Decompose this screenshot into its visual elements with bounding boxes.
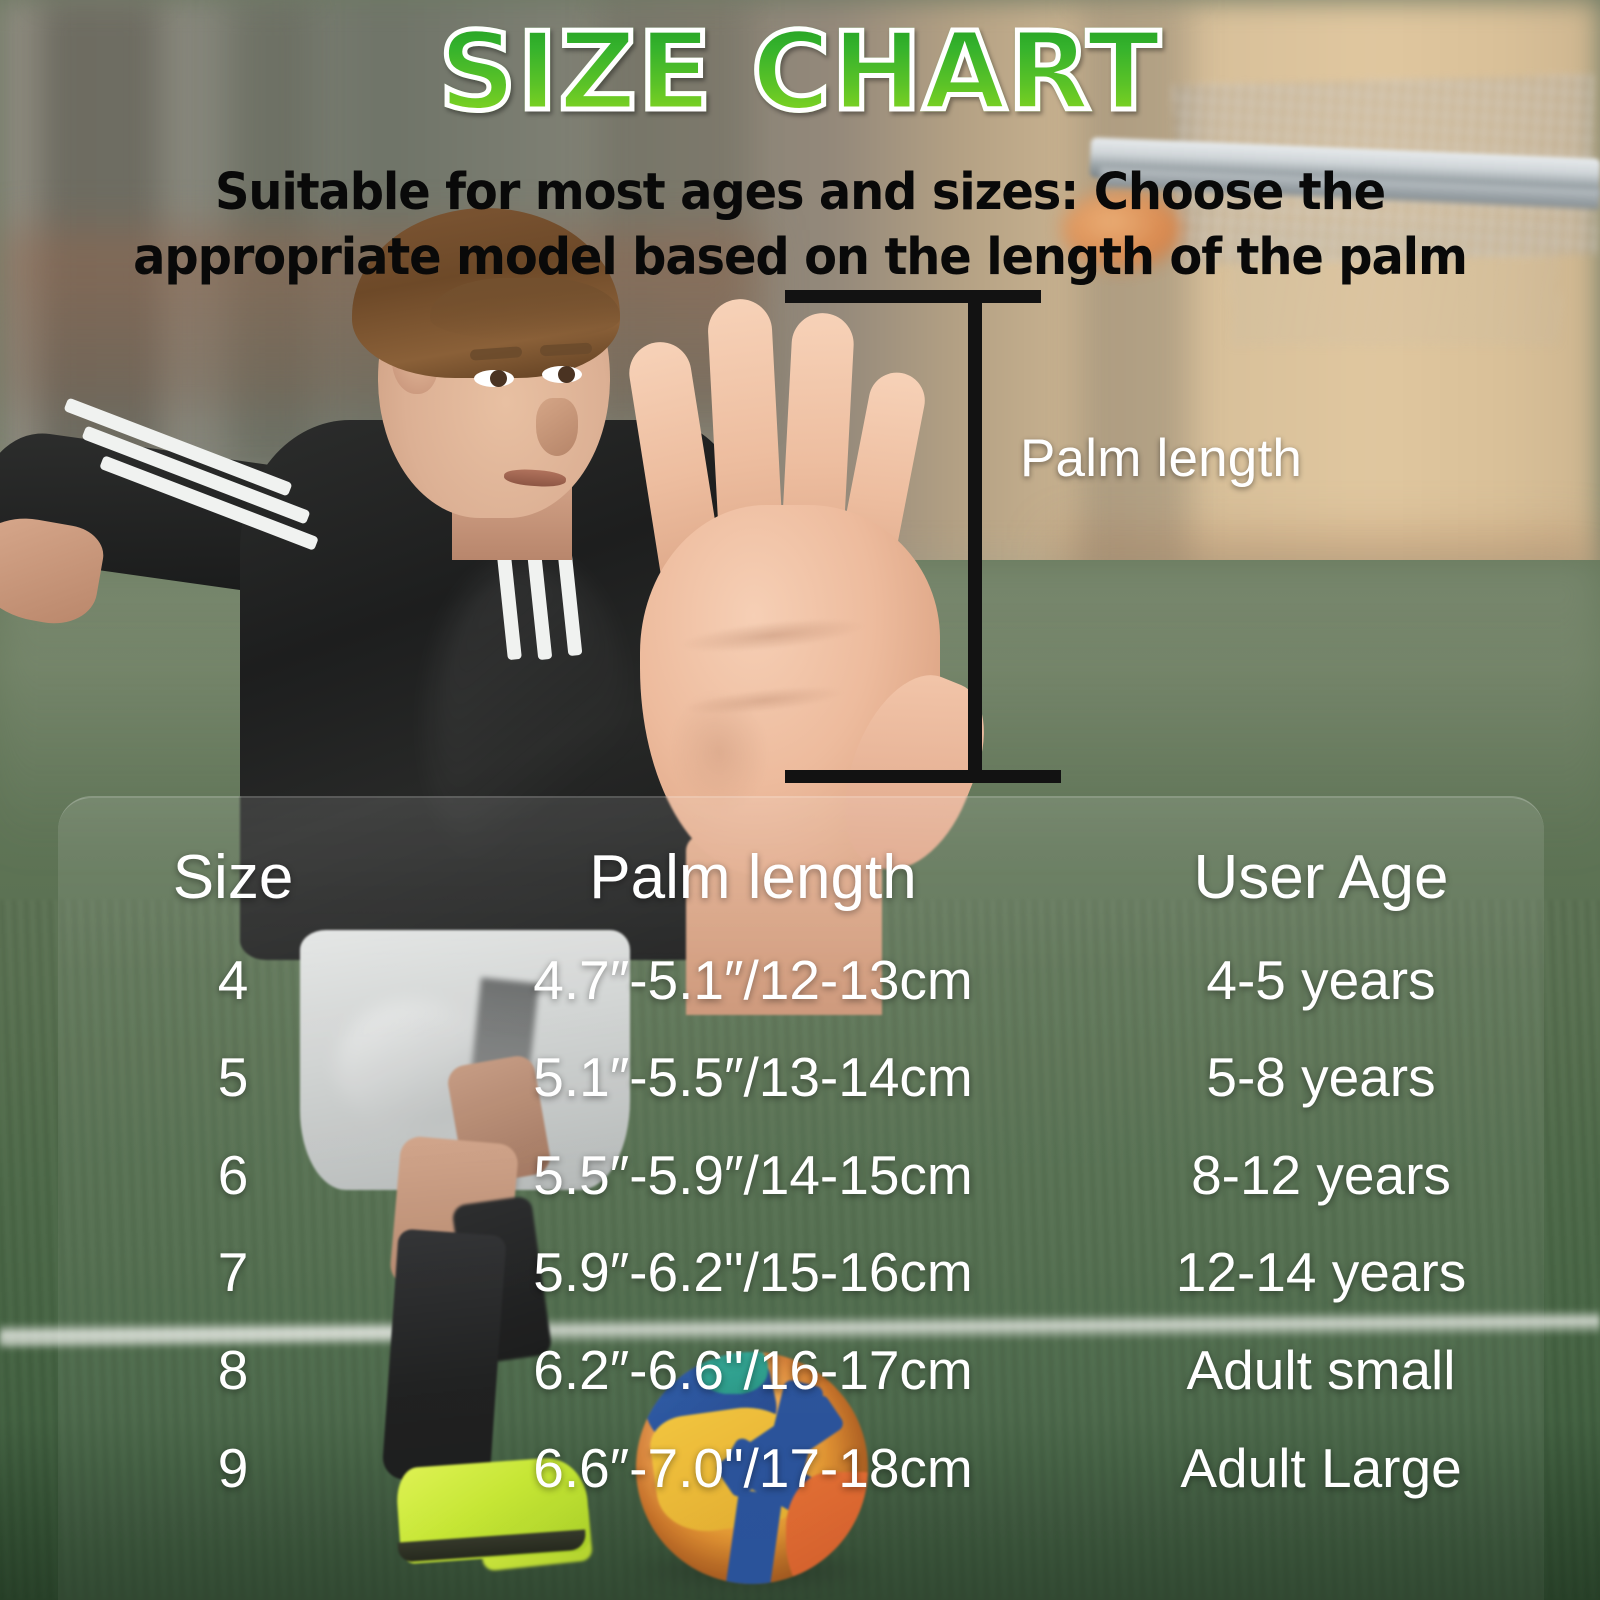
column-header-palm-length: Palm length	[408, 842, 1098, 913]
cell-size: 9	[58, 1436, 408, 1500]
column-header-size: Size	[58, 842, 408, 913]
page-subtitle: Suitable for most ages and sizes: Choose…	[95, 160, 1505, 291]
table-header-row: Size Palm length User Age	[58, 842, 1544, 913]
dimension-vertical-line	[968, 290, 982, 783]
table-row: 7 5.9″-6.2"/15-16cm 12-14 years	[58, 1240, 1544, 1304]
cell-user-age: Adult Large	[1098, 1436, 1544, 1500]
cell-palm-length: 6.6″-7.0"/17-18cm	[408, 1436, 1098, 1500]
table-row: 5 5.1″-5.5″/13-14cm 5-8 years	[58, 1045, 1544, 1109]
size-table: Size Palm length User Age 4 4.7″-5.1″/12…	[58, 796, 1544, 1600]
cell-user-age: 12-14 years	[1098, 1240, 1544, 1304]
column-header-user-age: User Age	[1098, 842, 1544, 913]
size-chart-image: Palm length SIZE CHART Suitable for most…	[0, 0, 1600, 1600]
cell-size: 7	[58, 1240, 408, 1304]
cell-user-age: 8-12 years	[1098, 1143, 1544, 1207]
table-row: 6 5.5″-5.9″/14-15cm 8-12 years	[58, 1143, 1544, 1207]
cell-user-age: Adult small	[1098, 1338, 1544, 1402]
palm-length-annotation-label: Palm length	[1020, 428, 1302, 489]
cell-user-age: 4-5 years	[1098, 948, 1544, 1012]
cell-palm-length: 5.1″-5.5″/13-14cm	[408, 1045, 1098, 1109]
nose	[536, 398, 578, 456]
dimension-top-cap	[785, 290, 1041, 303]
cell-palm-length: 4.7″-5.1″/12-13cm	[408, 948, 1098, 1012]
cell-user-age: 5-8 years	[1098, 1045, 1544, 1109]
page-title: SIZE CHART	[0, 14, 1600, 133]
table-row: 9 6.6″-7.0"/17-18cm Adult Large	[58, 1436, 1544, 1500]
cell-size: 8	[58, 1338, 408, 1402]
cell-palm-length: 6.2″-6.6"/16-17cm	[408, 1338, 1098, 1402]
dimension-bottom-cap	[785, 770, 1061, 783]
cell-size: 6	[58, 1143, 408, 1207]
cell-palm-length: 5.9″-6.2"/15-16cm	[408, 1240, 1098, 1304]
pupil	[558, 366, 575, 383]
cell-size: 5	[58, 1045, 408, 1109]
table-row: 4 4.7″-5.1″/12-13cm 4-5 years	[58, 948, 1544, 1012]
cell-palm-length: 5.5″-5.9″/14-15cm	[408, 1143, 1098, 1207]
table-row: 8 6.2″-6.6"/16-17cm Adult small	[58, 1338, 1544, 1402]
pupil	[490, 370, 507, 387]
cell-size: 4	[58, 948, 408, 1012]
